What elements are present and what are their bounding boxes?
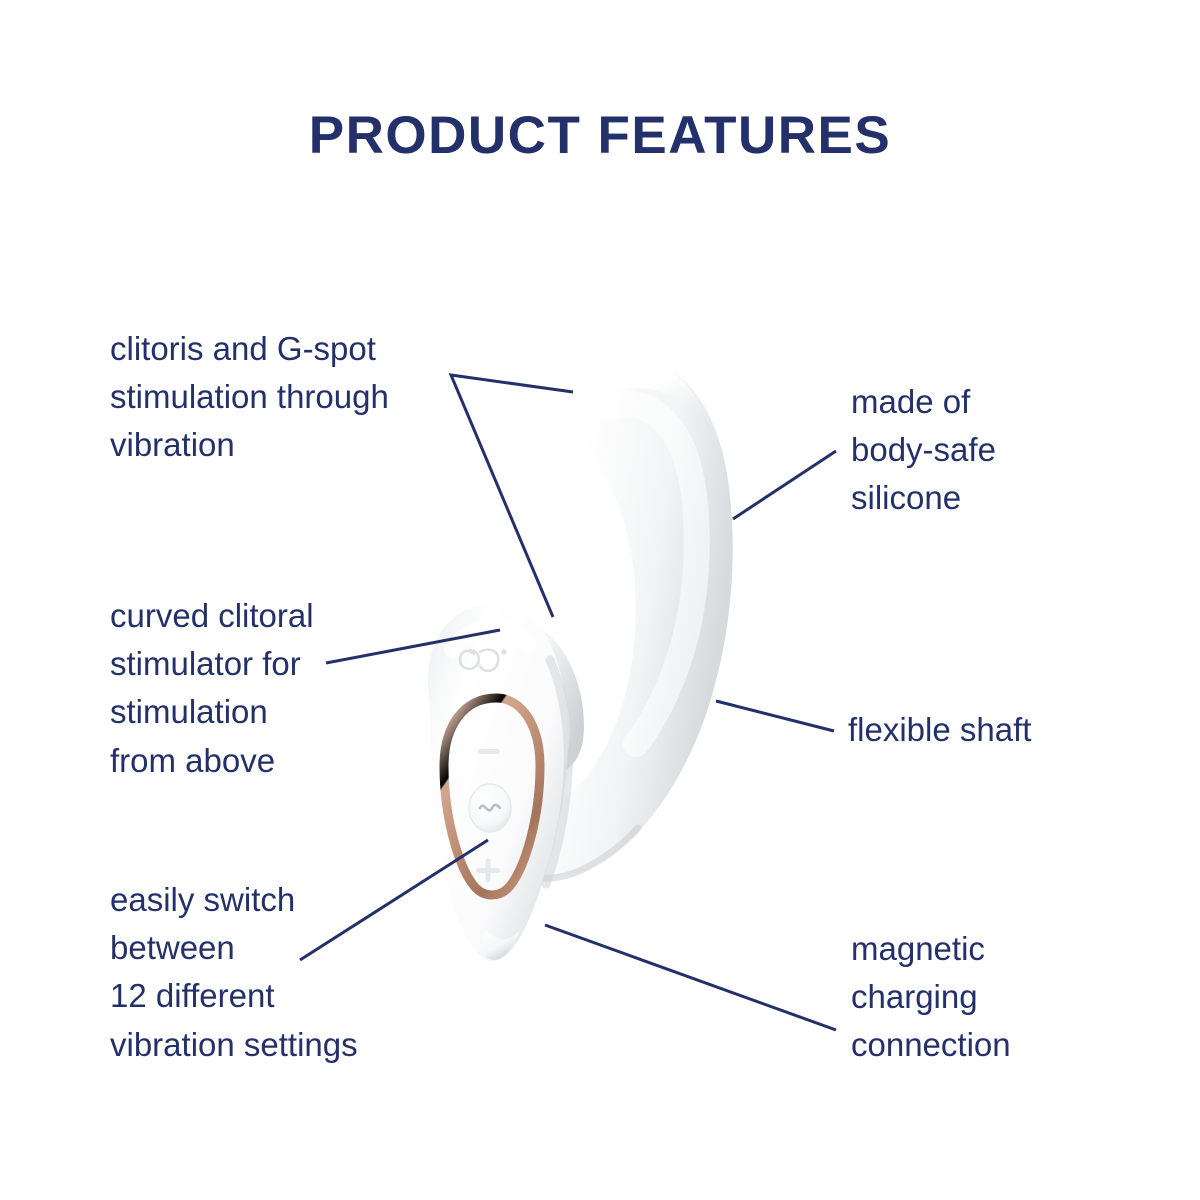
callout-flexible-shaft: flexible shaft [848, 706, 1128, 754]
infographic-canvas: PRODUCT FEATURES [0, 0, 1200, 1200]
callout-curved-stimulator: curved clitoral stimulator for stimulati… [110, 592, 410, 785]
callout-magnetic-charging: magnetic charging connection [851, 925, 1111, 1070]
callout-body-safe-silicone: made of body-safe silicone [851, 378, 1101, 523]
callout-clitoris-gspot: clitoris and G-spot stimulation through … [110, 325, 470, 470]
page-title: PRODUCT FEATURES [0, 108, 1200, 164]
callout-vibration-settings: easily switch between 12 different vibra… [110, 876, 440, 1069]
minus-button[interactable] [478, 749, 500, 754]
wave-mode-button[interactable] [469, 784, 511, 832]
